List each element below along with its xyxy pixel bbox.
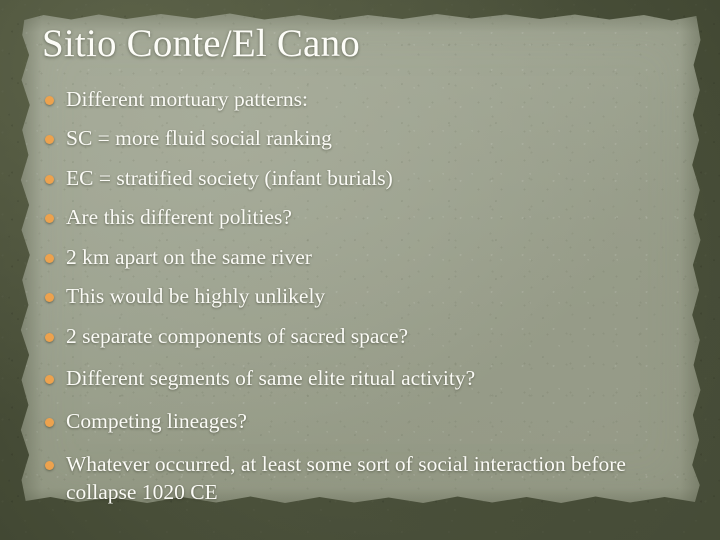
list-item-label: Different mortuary patterns: <box>66 87 308 111</box>
list-item-label: 2 km apart on the same river <box>66 245 312 269</box>
bullet-dot-icon <box>45 175 54 184</box>
bullet-dot-icon <box>45 293 54 302</box>
list-item: 2 separate components of sacred space? <box>40 323 680 351</box>
list-item: Different mortuary patterns: <box>40 86 680 114</box>
bullet-dot-icon <box>45 461 54 470</box>
list-item: EC = stratified society (infant burials) <box>40 165 680 193</box>
list-item-label: 2 separate components of sacred space? <box>66 324 408 348</box>
list-item-label: Competing lineages? <box>66 409 247 433</box>
bullet-dot-icon <box>45 96 54 105</box>
slide-title: Sitio Conte/El Cano <box>42 24 360 65</box>
list-item: SC = more fluid social ranking <box>40 125 680 153</box>
bullet-dot-icon <box>45 333 54 342</box>
bullet-dot-icon <box>45 375 54 384</box>
list-item-label: This would be highly unlikely <box>66 284 325 308</box>
list-item: This would be highly unlikely <box>40 283 680 311</box>
bullet-list: Different mortuary patterns: SC = more f… <box>40 86 680 507</box>
bullet-dot-icon <box>45 214 54 223</box>
list-item: Are this different polities? <box>40 204 680 232</box>
bullet-dot-icon <box>45 254 54 263</box>
list-item: Competing lineages? <box>40 408 680 436</box>
list-item-label: Whatever occurred, at least some sort of… <box>66 452 626 504</box>
list-item: Whatever occurred, at least some sort of… <box>40 451 680 507</box>
list-item: 2 km apart on the same river <box>40 244 680 272</box>
slide: Sitio Conte/El Cano Different mortuary p… <box>0 0 720 540</box>
list-item-label: Are this different polities? <box>66 205 292 229</box>
bullet-dot-icon <box>45 135 54 144</box>
bullet-dot-icon <box>45 418 54 427</box>
list-item: Different segments of same elite ritual … <box>40 365 680 393</box>
list-item-label: SC = more fluid social ranking <box>66 126 332 150</box>
list-item-label: EC = stratified society (infant burials) <box>66 166 393 190</box>
list-item-label: Different segments of same elite ritual … <box>66 366 475 390</box>
slide-content: Sitio Conte/El Cano Different mortuary p… <box>0 0 720 540</box>
